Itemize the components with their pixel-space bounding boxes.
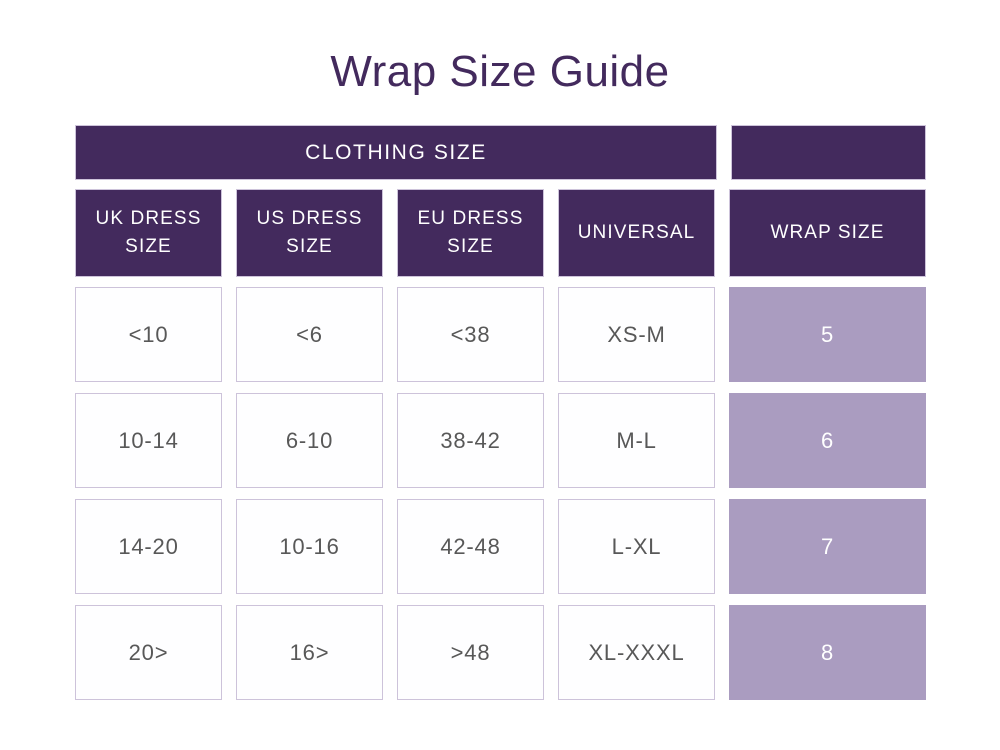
column-gap xyxy=(715,189,729,277)
page-title: Wrap Size Guide xyxy=(0,48,1000,96)
column-gap xyxy=(717,125,731,180)
cell-eu-dress-size: 42-48 xyxy=(397,499,544,594)
size-guide-table: CLOTHING SIZE UK DRESS SIZE US DRESS SIZ… xyxy=(75,125,926,700)
column-gap xyxy=(544,605,558,700)
column-gap xyxy=(715,287,729,382)
table-row: 10-14 6-10 38-42 M-L 6 xyxy=(75,393,926,488)
cell-wrap-size: 8 xyxy=(729,605,926,700)
column-gap xyxy=(383,499,397,594)
cell-uk-dress-size: <10 xyxy=(75,287,222,382)
table-row: <10 <6 <38 XS-M 5 xyxy=(75,287,926,382)
cell-uk-dress-size: 20> xyxy=(75,605,222,700)
column-gap xyxy=(544,393,558,488)
table-row: 20> 16> >48 XL-XXXL 8 xyxy=(75,605,926,700)
cell-universal: XL-XXXL xyxy=(558,605,715,700)
cell-wrap-size: 7 xyxy=(729,499,926,594)
cell-uk-dress-size: 10-14 xyxy=(75,393,222,488)
table-row: 14-20 10-16 42-48 L-XL 7 xyxy=(75,499,926,594)
cell-universal: M-L xyxy=(558,393,715,488)
column-gap xyxy=(383,393,397,488)
banner-clothing-size: CLOTHING SIZE xyxy=(75,125,717,180)
size-guide-page: Wrap Size Guide CLOTHING SIZE UK DRESS S… xyxy=(0,0,1000,750)
header-wrap-size: WRAP SIZE xyxy=(729,189,926,277)
column-gap xyxy=(383,287,397,382)
column-gap xyxy=(222,287,236,382)
banner-row: CLOTHING SIZE xyxy=(75,125,926,180)
cell-universal: XS-M xyxy=(558,287,715,382)
cell-uk-dress-size: 14-20 xyxy=(75,499,222,594)
cell-universal: L-XL xyxy=(558,499,715,594)
column-gap xyxy=(383,189,397,277)
header-row: UK DRESS SIZE US DRESS SIZE EU DRESS SIZ… xyxy=(75,189,926,277)
header-us-dress-size: US DRESS SIZE xyxy=(236,189,383,277)
cell-wrap-size: 6 xyxy=(729,393,926,488)
header-eu-dress-size: EU DRESS SIZE xyxy=(397,189,544,277)
cell-wrap-size: 5 xyxy=(729,287,926,382)
cell-us-dress-size: 6-10 xyxy=(236,393,383,488)
column-gap xyxy=(222,393,236,488)
banner-blank xyxy=(731,125,926,180)
cell-us-dress-size: <6 xyxy=(236,287,383,382)
column-gap xyxy=(544,189,558,277)
cell-eu-dress-size: 38-42 xyxy=(397,393,544,488)
cell-us-dress-size: 10-16 xyxy=(236,499,383,594)
column-gap xyxy=(383,605,397,700)
cell-eu-dress-size: >48 xyxy=(397,605,544,700)
column-gap xyxy=(222,189,236,277)
column-gap xyxy=(222,499,236,594)
column-gap xyxy=(222,605,236,700)
header-uk-dress-size: UK DRESS SIZE xyxy=(75,189,222,277)
cell-us-dress-size: 16> xyxy=(236,605,383,700)
cell-eu-dress-size: <38 xyxy=(397,287,544,382)
column-gap xyxy=(544,499,558,594)
column-gap xyxy=(715,393,729,488)
column-gap xyxy=(715,499,729,594)
column-gap xyxy=(715,605,729,700)
column-gap xyxy=(544,287,558,382)
header-universal: UNIVERSAL xyxy=(558,189,715,277)
